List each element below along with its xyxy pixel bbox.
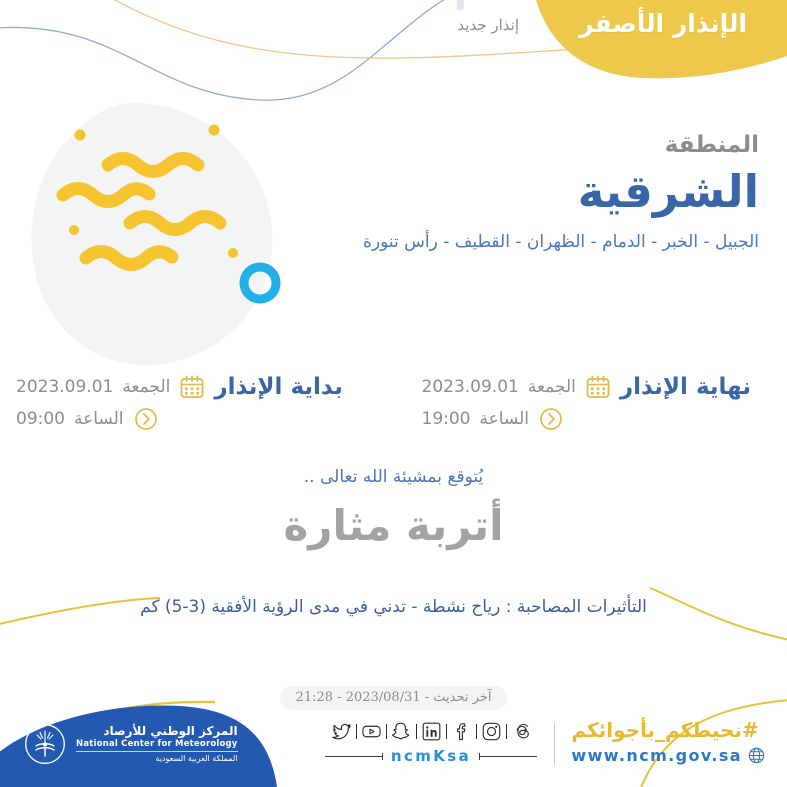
alert-end-date-line: نهاية الإنذار الجمع — [422, 374, 751, 400]
instagram-icon[interactable] — [481, 721, 502, 742]
social-separator — [352, 723, 361, 740]
alert-start-time: 09:00 — [16, 411, 65, 428]
new-alert-label: إنذار جديد — [457, 16, 519, 34]
alert-end-day: الجمعة — [528, 379, 576, 396]
alert-start-title: بداية الإنذار — [214, 376, 342, 399]
social-handle: ncmKsa — [383, 747, 479, 765]
region-cities: الجبيل - الخبر - الدمام - الظهران - القط… — [329, 229, 759, 255]
alert-start-time-label: الساعة — [74, 411, 124, 428]
snapchat-icon[interactable] — [391, 721, 412, 742]
region-label: المنطقة — [329, 132, 759, 160]
youtube-icon[interactable] — [361, 721, 382, 742]
footer-brand-block: #نحيطكم_بأجوائكم www.ncm.gov.sa — [571, 718, 765, 765]
alert-start-date: 2023.09.01 — [16, 379, 113, 396]
social-separator — [382, 723, 391, 740]
handle-rule-left — [325, 756, 383, 757]
social-separator — [472, 723, 481, 740]
website-url[interactable]: www.ncm.gov.sa — [571, 746, 742, 765]
region-name: الشرقية — [329, 164, 759, 220]
alert-period-row: نهاية الإنذار الجمع — [0, 374, 787, 450]
alert-end-block: نهاية الإنذار الجمع — [394, 374, 787, 450]
globe-icon — [748, 747, 765, 764]
social-handle-row: ncmKsa — [306, 747, 556, 765]
social-icons-row — [331, 721, 532, 742]
phenomenon-name: أتربة مثارة — [0, 500, 787, 553]
alert-infographic: الإنذار الأصفر إنذار جديد المنطقة الشرقي… — [0, 0, 787, 787]
twitter-icon[interactable] — [331, 721, 352, 742]
phenomenon-block: يُتوقع بمشيئة الله تعالى .. أتربة مثارة — [0, 466, 787, 552]
alert-level-label: الإنذار الأصفر — [579, 9, 747, 38]
saudi-emblem-icon — [24, 723, 66, 765]
clock-icon — [538, 406, 564, 432]
social-block: ncmKsa — [306, 721, 556, 765]
footer: المركز الوطني للأرصاد National Center fo… — [0, 705, 787, 787]
ncm-name-english: National Center for Meteorology — [76, 739, 238, 752]
website-row[interactable]: www.ncm.gov.sa — [571, 746, 765, 765]
ncm-logo: المركز الوطني للأرصاد National Center fo… — [24, 723, 238, 765]
social-separator — [502, 723, 511, 740]
blowing-dust-icon — [18, 95, 308, 385]
campaign-hashtag: #نحيطكم_بأجوائكم — [571, 718, 758, 742]
alert-end-time-line: الساعة 19:00 — [422, 406, 565, 432]
phenomenon-expectation: يُتوقع بمشيئة الله تعالى .. — [0, 466, 787, 490]
alert-end-time-label: الساعة — [480, 411, 530, 428]
region-block: المنطقة الشرقية الجبيل - الخبر - الدمام … — [329, 132, 759, 255]
facebook-icon[interactable] — [451, 721, 472, 742]
calendar-icon — [179, 374, 205, 400]
alert-start-date-line: بداية الإنذار الجمع — [16, 374, 343, 400]
alert-end-date: 2023.09.01 — [422, 379, 519, 396]
alert-end-title: نهاية الإنذار — [620, 376, 751, 399]
calendar-icon — [585, 374, 611, 400]
alert-start-day: الجمعة — [122, 379, 170, 396]
footer-divider — [554, 723, 555, 765]
linkedin-icon[interactable] — [421, 721, 442, 742]
ncm-name-arabic: المركز الوطني للأرصاد — [76, 724, 238, 739]
handle-rule-right — [479, 756, 537, 757]
alert-start-time-line: الساعة 09:00 — [16, 406, 159, 432]
threads-icon[interactable] — [511, 721, 532, 742]
alert-start-block: بداية الإنذار الجمع — [0, 374, 394, 450]
ncm-logo-text: المركز الوطني للأرصاد National Center fo… — [76, 724, 238, 764]
clock-icon — [133, 406, 159, 432]
alert-level-badge: الإنذار الأصفر — [539, 0, 787, 78]
kingdom-label: المملكة العربية السعودية — [76, 754, 238, 764]
social-separator — [412, 723, 421, 740]
associated-effects: التأثيرات المصاحبة : رياح نشطة - تدني في… — [96, 592, 691, 623]
social-separator — [442, 723, 451, 740]
alert-end-time: 19:00 — [422, 411, 471, 428]
